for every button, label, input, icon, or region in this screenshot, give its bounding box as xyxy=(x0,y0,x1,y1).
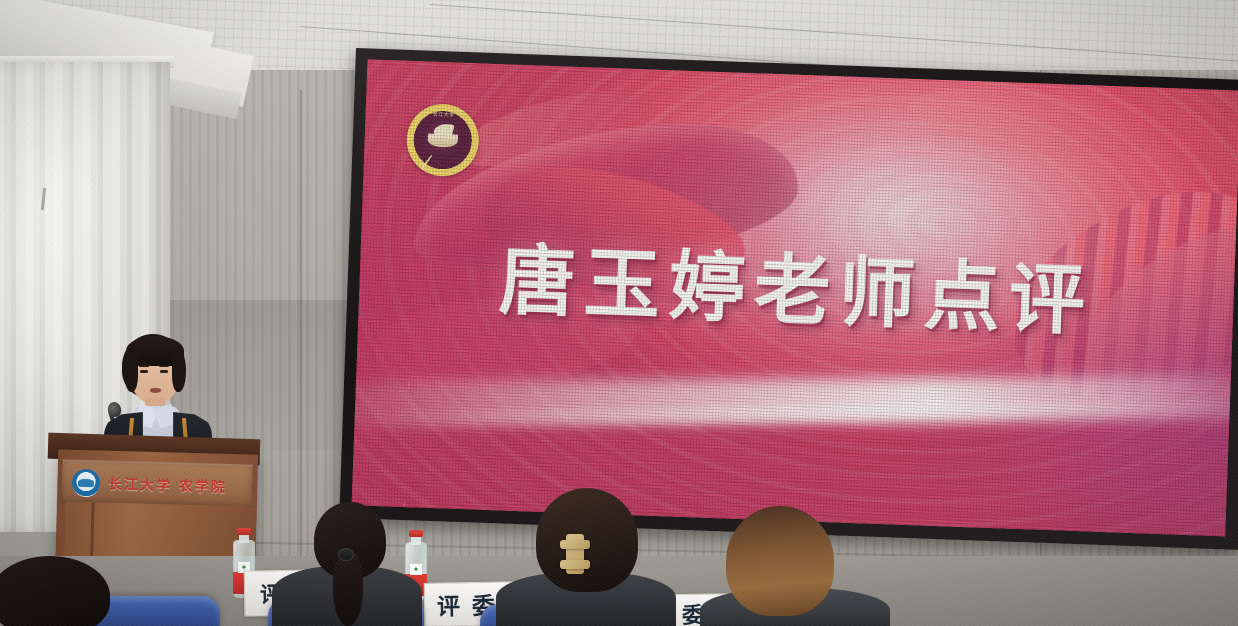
speaker-eye-right xyxy=(160,370,168,373)
bottle-cap xyxy=(237,528,251,535)
speaker-eyebrow-left xyxy=(139,365,149,367)
speaker-mouth xyxy=(150,388,161,393)
speaker-eyebrow-right xyxy=(159,365,169,367)
audience-hair xyxy=(726,506,834,616)
speaker-hair-left xyxy=(124,350,138,392)
ceiling-seam xyxy=(430,4,1238,62)
presentation-scene-photo: 长江大学 唐玉婷老师点评 xyxy=(0,0,1238,626)
led-display-screen[interactable]: 长江大学 唐玉婷老师点评 xyxy=(339,48,1238,550)
bottle-cap xyxy=(409,530,423,537)
bottle-green-mark: ✦ xyxy=(410,564,422,575)
podium-front-sign: 长江大学 农学院 xyxy=(61,459,252,508)
screen-surface: 长江大学 唐玉婷老师点评 xyxy=(352,59,1238,536)
hair-clip-bar xyxy=(560,560,590,569)
speaker-eye-left xyxy=(140,370,148,373)
hair-clip-bar xyxy=(560,540,590,549)
emblem-boat-shape xyxy=(428,133,458,147)
audience-member xyxy=(0,556,110,626)
audience-hair xyxy=(0,556,110,626)
hair-tie xyxy=(338,548,354,561)
speaker-hair-right xyxy=(172,350,186,392)
audience-member xyxy=(726,506,834,616)
audience-ponytail xyxy=(333,552,363,626)
podium-logo-icon xyxy=(72,469,101,498)
podium-sign-text: 长江大学 农学院 xyxy=(108,474,227,497)
